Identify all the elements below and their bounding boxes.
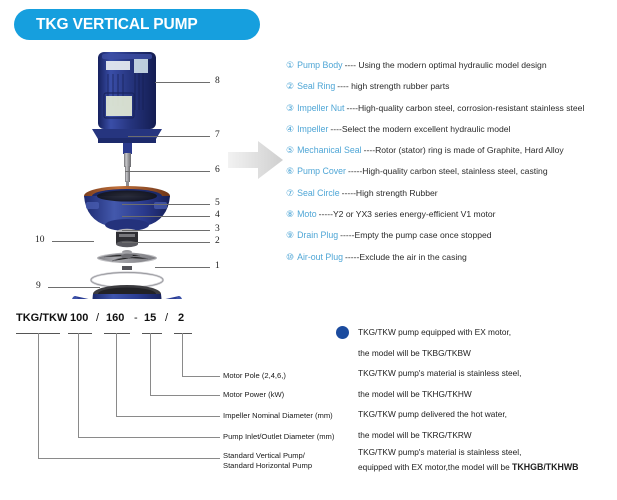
callout-number-7: 7 (215, 130, 220, 140)
leader-line-2 (122, 242, 210, 243)
code-vline-impeller (116, 333, 117, 416)
code-label-power: Motor Power (kW) (223, 390, 284, 400)
callout-number-5: 5 (215, 198, 220, 208)
legend-desc-4: ----Select the modern excellent hydrauli… (330, 124, 510, 134)
code-hline-pole (182, 376, 220, 377)
code-vline-power (150, 333, 151, 395)
callout-number-6: 6 (215, 165, 220, 175)
shaft-part (123, 143, 132, 191)
pump-cover-part (84, 186, 170, 231)
legend-number-10: ⑩ (286, 253, 294, 263)
callout-number-1: 1 (215, 261, 220, 271)
code-tick-impeller (104, 333, 130, 334)
callout-number-3: 3 (215, 224, 220, 234)
legend-part-7: Seal Circle (297, 188, 340, 198)
legend-item-2: ② Seal Ring ---- high strength rubber pa… (286, 81, 617, 102)
note-line-7: TKG/TKW pump's material is stainless ste… (336, 445, 617, 460)
impeller-nut-part (122, 266, 132, 270)
note-line-8-prefix: equipped with EX motor,the model will be (358, 462, 512, 472)
note-line-8: equipped with EX motor,the model will be… (336, 460, 617, 475)
note-line-2: the model will be TKBG/TKBW (336, 343, 617, 364)
page-title-banner: TKG VERTICAL PUMP (14, 9, 260, 40)
right-arrow-icon (228, 138, 284, 182)
legend-number-4: ④ (286, 125, 294, 135)
code-vline-pole (182, 333, 183, 376)
legend-number-2: ② (286, 82, 294, 92)
product-spec-page: TKG VERTICAL PUMP (0, 0, 617, 500)
code-separator-3: / (165, 312, 168, 324)
leader-line-9 (48, 287, 100, 288)
code-hline-impeller (116, 416, 220, 417)
code-label-pole: Motor Pole (2,4,6,) (223, 371, 286, 381)
callout-number-2: 2 (215, 236, 220, 246)
code-separator-2: - (134, 312, 138, 324)
legend-item-8: ⑧ Moto -----Y2 or YX3 series energy-effi… (286, 209, 617, 230)
legend-part-6: Pump Cover (297, 166, 346, 176)
legend-desc-6: -----High-quality carbon steel, stainles… (348, 166, 548, 176)
legend-item-5: ⑤ Mechanical Seal ----Rotor (stator) rin… (286, 145, 617, 166)
code-label-series-line1: Standard Vertical Pump/ (223, 451, 312, 461)
legend-number-7: ⑦ (286, 189, 294, 199)
code-label-impeller: Impeller Nominal Diameter (mm) (223, 411, 333, 421)
legend-number-5: ⑤ (286, 146, 294, 156)
legend-part-4: Impeller (297, 124, 328, 134)
code-tick-power (142, 333, 162, 334)
callout-number-8: 8 (215, 76, 220, 86)
mechanical-seal-part (116, 229, 138, 247)
code-vline-inlet (78, 333, 79, 437)
leader-line-1 (155, 267, 210, 268)
note-line-8-model: TKHGB/TKHWB (512, 462, 578, 472)
code-label-series-line2: Standard Horizontal Pump (223, 461, 312, 471)
model-variant-notes: TKG/TKW pump equipped with EX motor, the… (336, 322, 617, 475)
callout-number-4: 4 (215, 210, 220, 220)
legend-desc-9: -----Empty the pump case once stopped (340, 230, 491, 240)
code-segment-power: 15 (144, 312, 156, 324)
legend-part-10: Air-out Plug (297, 252, 343, 262)
leader-line-3 (122, 230, 210, 231)
impeller-part (97, 250, 157, 263)
legend-desc-2: ---- high strength rubber parts (337, 81, 449, 91)
code-segment-inlet: 100 (70, 312, 88, 324)
legend-part-5: Mechanical Seal (297, 145, 362, 155)
parts-legend-list: ① Pump Body ---- Using the modern optima… (286, 60, 617, 273)
legend-part-3: Impeller Nut (297, 103, 344, 113)
legend-item-4: ④ Impeller ----Select the modern excelle… (286, 124, 617, 145)
code-label-series: Standard Vertical Pump/ Standard Horizon… (223, 451, 312, 471)
code-label-inlet: Pump Inlet/Outlet Diameter (mm) (223, 432, 334, 442)
legend-item-6: ⑥ Pump Cover -----High-quality carbon st… (286, 166, 617, 187)
leader-line-8 (155, 82, 210, 83)
legend-number-1: ① (286, 61, 294, 71)
bullet-dot-icon (336, 326, 349, 339)
code-hline-series (38, 458, 220, 459)
code-hline-inlet (78, 437, 220, 438)
legend-number-6: ⑥ (286, 167, 294, 177)
legend-item-10: ⑩ Air-out Plug -----Exclude the air in t… (286, 252, 617, 273)
note-line-4: the model will be TKHG/TKHW (336, 384, 617, 405)
legend-desc-1: ---- Using the modern optimal hydraulic … (345, 60, 547, 70)
legend-part-9: Drain Plug (297, 230, 338, 240)
legend-item-9: ⑨ Drain Plug -----Empty the pump case on… (286, 230, 617, 251)
model-code-breakdown: TKG/TKW 100 / 160 - 15 / 2 Motor Pole (2… (8, 312, 328, 492)
motor-part (92, 52, 162, 143)
legend-item-7: ⑦ Seal Circle -----High strength Rubber (286, 188, 617, 209)
callout-number-10: 10 (35, 235, 45, 245)
note-line-6: the model will be TKRG/TKRW (336, 425, 617, 446)
legend-desc-7: -----High strength Rubber (342, 188, 438, 198)
legend-number-3: ③ (286, 104, 294, 114)
legend-desc-10: -----Exclude the air in the casing (345, 252, 467, 262)
code-vline-series (38, 333, 39, 458)
code-tick-inlet (68, 333, 92, 334)
code-segment-impeller: 160 (106, 312, 124, 324)
leader-line-7 (128, 136, 210, 137)
legend-desc-5: ----Rotor (stator) ring is made of Graph… (364, 145, 564, 155)
note-line-1: TKG/TKW pump equipped with EX motor, (336, 322, 617, 343)
page-title: TKG VERTICAL PUMP (14, 16, 198, 34)
leader-line-10 (52, 241, 94, 242)
legend-desc-3: ----High-quality carbon steel, corrosion… (347, 103, 585, 113)
legend-number-9: ⑨ (286, 231, 294, 241)
code-hline-power (150, 395, 220, 396)
legend-number-8: ⑧ (286, 210, 294, 220)
legend-part-2: Seal Ring (297, 81, 335, 91)
note-line-5: TKG/TKW pump delivered the hot water, (336, 404, 617, 425)
leader-line-4 (122, 216, 210, 217)
legend-item-3: ③ Impeller Nut ----High-quality carbon s… (286, 103, 617, 124)
leader-line-6 (125, 171, 210, 172)
legend-desc-8: -----Y2 or YX3 series energy-efficient V… (319, 209, 496, 219)
code-segment-pole: 2 (178, 312, 184, 324)
leader-line-5 (122, 204, 210, 205)
code-segment-series: TKG/TKW (16, 312, 67, 324)
code-separator-1: / (96, 312, 99, 324)
note-line-3: TKG/TKW pump's material is stainless ste… (336, 363, 617, 384)
callout-number-9: 9 (36, 281, 41, 291)
legend-item-1: ① Pump Body ---- Using the modern optima… (286, 60, 617, 81)
legend-part-8: Moto (297, 209, 317, 219)
code-tick-pole (174, 333, 192, 334)
legend-part-1: Pump Body (297, 60, 342, 70)
